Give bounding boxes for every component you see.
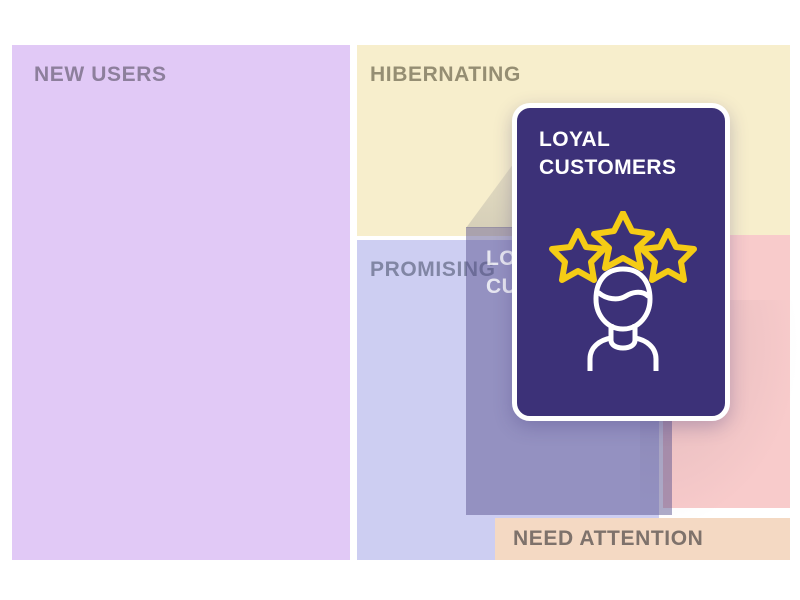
customer-with-three-stars-icon bbox=[548, 211, 698, 371]
segment-label-need-attention: NEED ATTENTION bbox=[513, 527, 703, 551]
segment-panel-new-users[interactable]: NEW USERS bbox=[12, 45, 350, 560]
segment-panel-need-attention[interactable]: NEED ATTENTION bbox=[495, 518, 790, 560]
person-shoulders-icon bbox=[590, 338, 656, 371]
segmentation-diagram: NEW USERS HIBERNATING PROMISING AT RISK … bbox=[0, 0, 800, 600]
highlight-card-title: LOYAL CUSTOMERS bbox=[539, 126, 676, 182]
segment-label-hibernating: HIBERNATING bbox=[370, 63, 521, 87]
star-icon-center bbox=[594, 213, 652, 268]
highlight-card-title-line-2: CUSTOMERS bbox=[539, 156, 676, 179]
highlight-card-loyal-customers[interactable]: LOYAL CUSTOMERS bbox=[512, 103, 730, 421]
person-hair-icon bbox=[599, 292, 648, 299]
segment-label-new-users: NEW USERS bbox=[34, 63, 167, 87]
highlight-card-title-line-1: LOYAL bbox=[539, 128, 610, 151]
